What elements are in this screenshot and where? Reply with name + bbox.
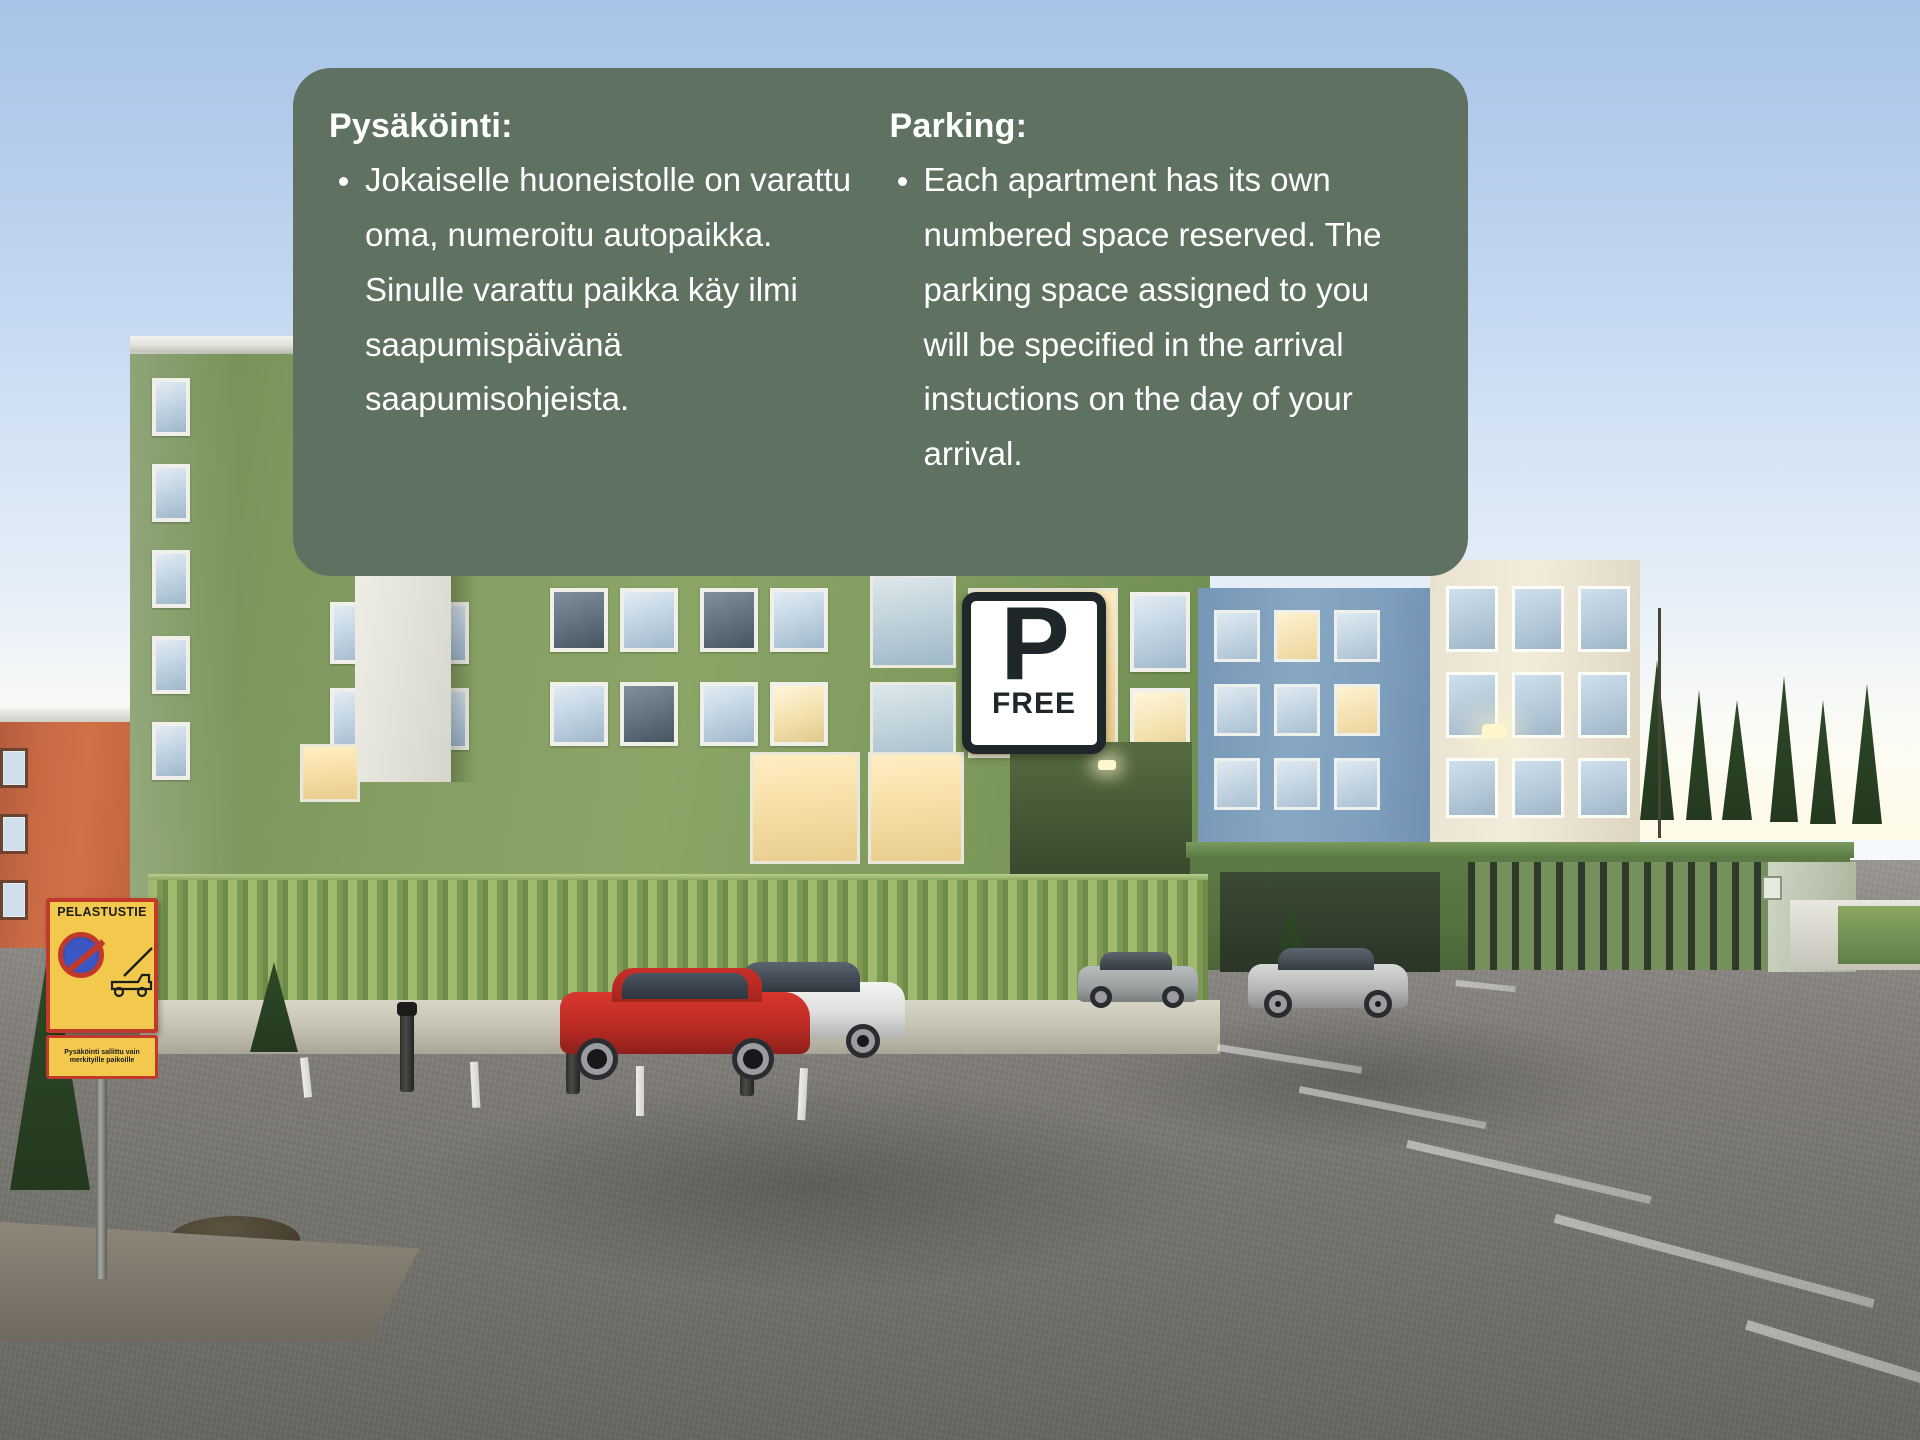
car-wheel [1090, 986, 1112, 1008]
red-station-wagon [560, 968, 812, 1080]
rescue-road-sub-text: Pysäköinti sallittu vain merkityille pai… [51, 1049, 153, 1065]
window [1512, 758, 1564, 818]
window [550, 682, 608, 746]
window [770, 682, 828, 746]
english-bullet-list: Each apartment has its own numbered spac… [886, 153, 1423, 482]
finnish-heading: Pysäköinti: [329, 108, 864, 145]
tow-truck-icon [102, 942, 158, 998]
car-wheel [576, 1038, 618, 1080]
window [0, 748, 28, 788]
parking-info-card: Pysäköinti: Jokaiselle huoneistolle on v… [293, 68, 1468, 576]
green-building-highlight [130, 352, 240, 912]
lobby-glazing [750, 752, 860, 864]
lobby-glazing [868, 752, 964, 864]
english-heading: Parking: [890, 108, 1423, 145]
parking-info-image: PELASTUSTIE Pysäköinti sallittu vain mer… [0, 0, 1920, 1440]
window [152, 722, 190, 780]
silver-hatchback [1248, 948, 1412, 1020]
right-green-panel [1838, 906, 1920, 964]
no-parking-icon [58, 932, 104, 978]
window [152, 378, 190, 436]
list-item: Jokaiselle huoneistolle on varattu oma, … [327, 153, 864, 427]
lobby-glazing [300, 744, 360, 802]
window [1214, 684, 1260, 736]
parking-p-letter: P [1000, 595, 1067, 695]
balcony-glass [870, 574, 956, 668]
window [620, 588, 678, 652]
bullet-dot [898, 177, 907, 186]
car-wheel [1264, 990, 1292, 1018]
finnish-bullet-text: Jokaiselle huoneistolle on varattu oma, … [365, 153, 864, 427]
window [1130, 592, 1190, 672]
street-lamp-glow [1482, 724, 1506, 738]
window [1512, 672, 1564, 738]
window [1446, 758, 1498, 818]
list-item: Each apartment has its own numbered spac… [886, 153, 1423, 482]
window [1334, 610, 1380, 662]
rescue-road-sub-sign: Pysäköinti sallittu vain merkityille pai… [46, 1035, 158, 1079]
beige-apartment-block [1430, 560, 1640, 850]
window [1274, 758, 1320, 810]
window [620, 682, 678, 746]
car-windshield [1278, 948, 1374, 970]
carport-roof [1186, 842, 1854, 858]
bare-tree [1658, 608, 1661, 838]
window [1214, 758, 1260, 810]
bullet-dot [339, 177, 348, 186]
wet-asphalt-patch [430, 1080, 1190, 1290]
car-wheel [1162, 986, 1184, 1008]
passage-light [1098, 760, 1116, 770]
window [1578, 758, 1630, 818]
english-bullet-text: Each apartment has its own numbered spac… [924, 153, 1423, 482]
window [1512, 586, 1564, 652]
window [1214, 610, 1260, 662]
window [152, 550, 190, 608]
car-wheel [732, 1038, 774, 1080]
window [770, 588, 828, 652]
parking-free-sign: P FREE [962, 592, 1106, 754]
finnish-column: Pysäköinti: Jokaiselle huoneistolle on v… [327, 108, 864, 546]
window [152, 464, 190, 522]
car-wheel [1364, 990, 1392, 1018]
sign-post [96, 1079, 107, 1279]
window [0, 814, 28, 854]
ev-charging-bollard [400, 1010, 414, 1092]
window [1334, 684, 1380, 736]
window [152, 636, 190, 694]
english-column: Parking: Each apartment has its own numb… [886, 108, 1423, 546]
parking-free-label: FREE [992, 687, 1076, 721]
window [700, 588, 758, 652]
carport-sign-plate [1762, 876, 1782, 900]
window [700, 682, 758, 746]
car-wheel [846, 1024, 880, 1058]
car-windshield [622, 973, 748, 999]
gray-car-in-garage [1078, 952, 1202, 1008]
window [0, 880, 28, 920]
window [1334, 758, 1380, 810]
window [1578, 672, 1630, 738]
window [1446, 586, 1498, 652]
window [1274, 610, 1320, 662]
window [1578, 586, 1630, 652]
window [550, 588, 608, 652]
window [1274, 684, 1320, 736]
car-windshield [1100, 952, 1172, 970]
rescue-road-sign-title: PELASTUSTIE [53, 906, 151, 919]
finnish-bullet-list: Jokaiselle huoneistolle on varattu oma, … [327, 153, 864, 427]
rescue-road-sign: PELASTUSTIE [46, 898, 158, 1033]
carport-slat-screen [1468, 862, 1768, 970]
